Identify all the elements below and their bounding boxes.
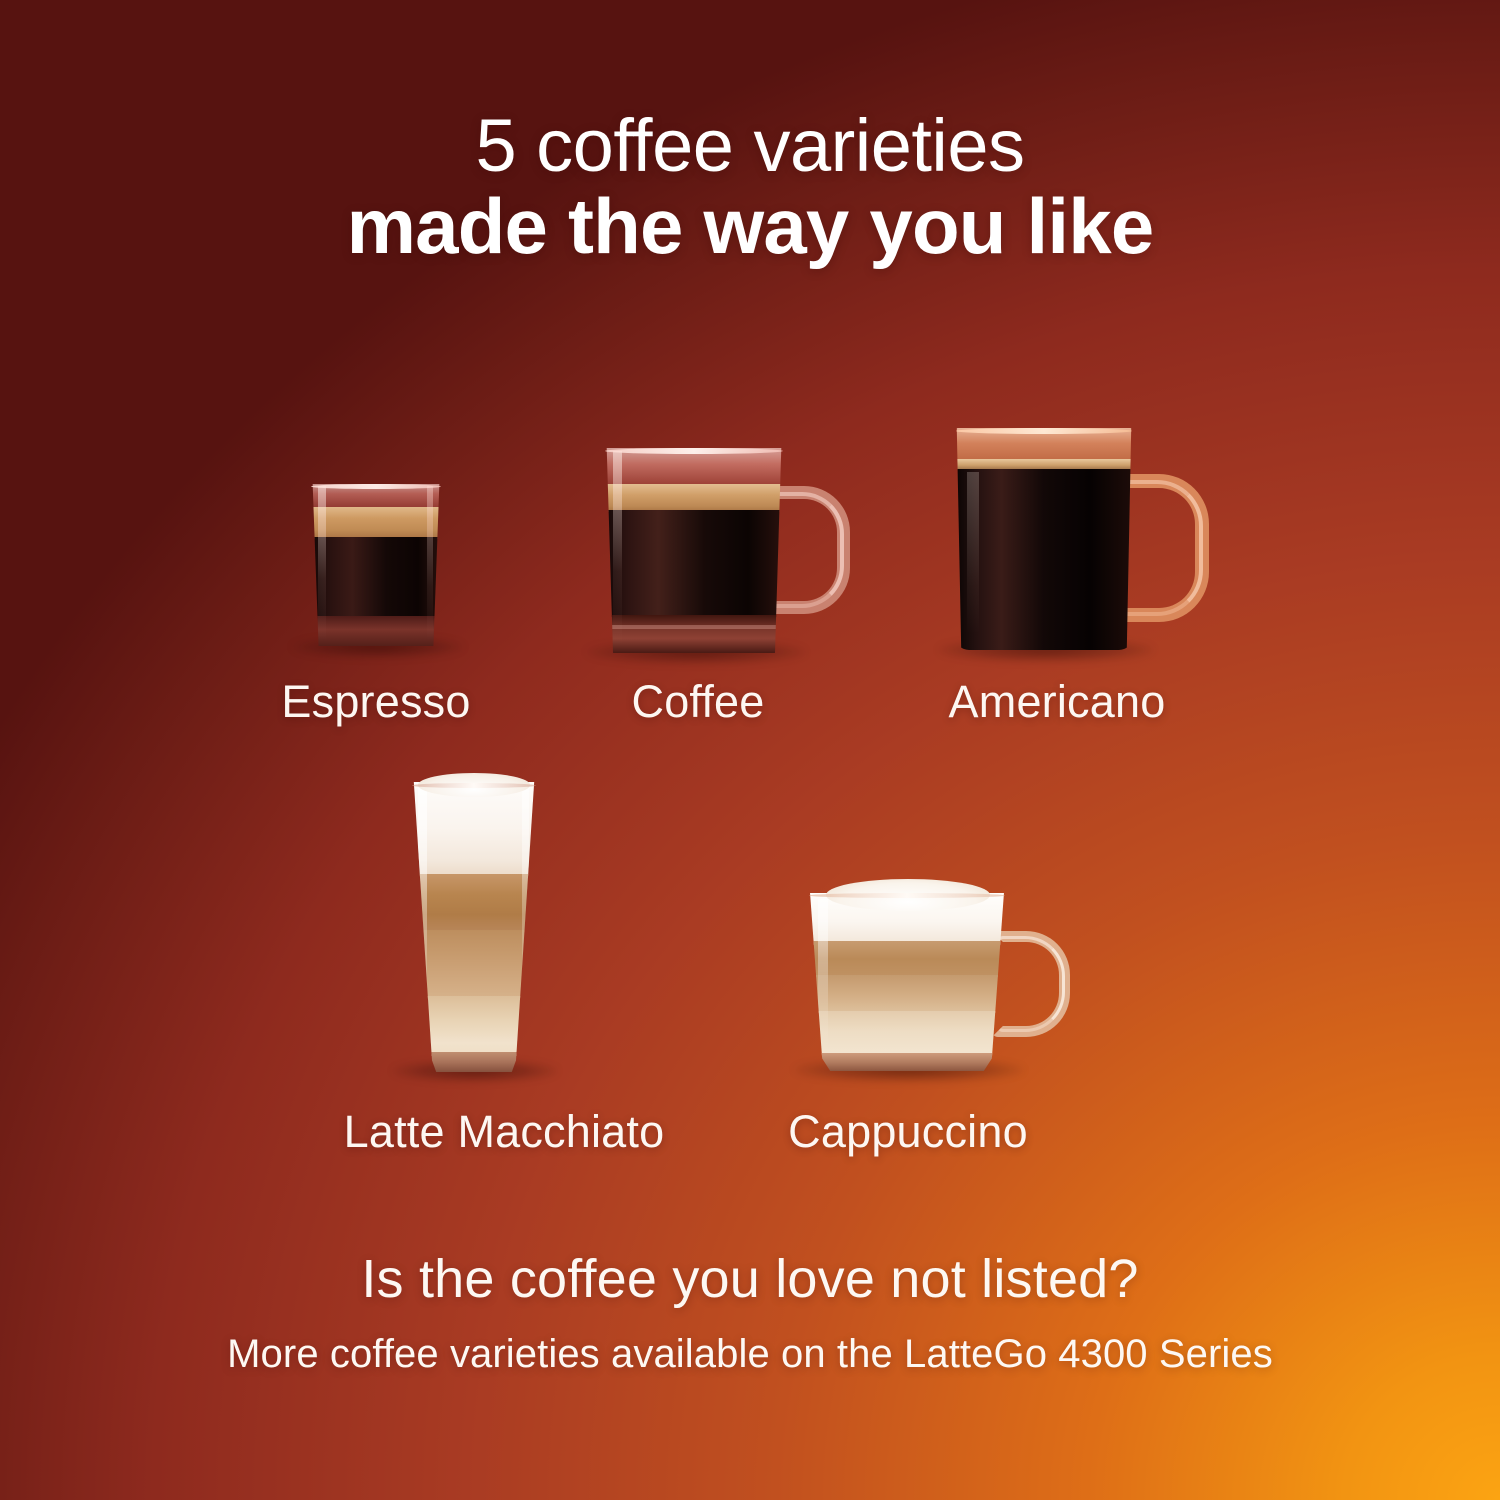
footer-subtext: More coffee varieties available on the L…	[0, 1332, 1500, 1377]
cappuccino-cup-icon	[806, 893, 1008, 1071]
page-title: 5 coffee varieties made the way you like	[0, 108, 1500, 267]
cappuccino-label: Cappuccino	[763, 1106, 1053, 1158]
headline-line-1: 5 coffee varieties	[0, 108, 1500, 183]
coffee-mug-icon	[604, 448, 784, 653]
latte-macchiato-label: Latte Macchiato	[324, 1106, 684, 1158]
latte-glass-icon	[404, 782, 544, 1072]
espresso-label: Espresso	[226, 676, 526, 728]
coffee-varieties-banner: 5 coffee varieties made the way you like…	[0, 0, 1500, 1500]
espresso-glass-icon	[310, 484, 442, 646]
footer-question: Is the coffee you love not listed?	[0, 1248, 1500, 1310]
coffee-label: Coffee	[548, 676, 848, 728]
americano-mug-icon	[955, 428, 1133, 650]
americano-label: Americano	[902, 676, 1212, 728]
headline-line-2: made the way you like	[0, 187, 1500, 267]
